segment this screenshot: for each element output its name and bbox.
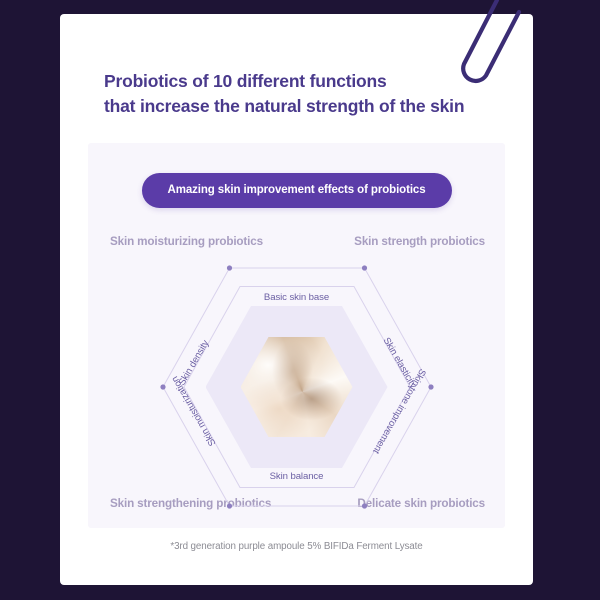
hexagon-diagram: Basic skin base Skin elasticity Skin ton… <box>162 267 432 507</box>
corner-label-skin-moisturizing: Skin moisturizing probiotics <box>110 235 263 248</box>
diagram-panel: Amazing skin improvement effects of prob… <box>88 143 505 528</box>
corner-label-skin-strength: Skin strength probiotics <box>354 235 485 248</box>
content-card: Probiotics of 10 different functions tha… <box>60 14 533 585</box>
page-title-line-2: that increase the natural strength of th… <box>104 94 504 119</box>
page-title: Probiotics of 10 different functions tha… <box>104 69 504 120</box>
footnote-text: *3rd generation purple ampoule 5% BIFIDa… <box>60 541 533 552</box>
page-title-line-1: Probiotics of 10 different functions <box>104 69 504 94</box>
hex-label-skin-balance: Skin balance <box>270 471 324 482</box>
badge-amazing-effects: Amazing skin improvement effects of prob… <box>141 173 451 208</box>
page-background: Probiotics of 10 different functions tha… <box>0 0 600 600</box>
hex-label-basic-skin-base: Basic skin base <box>264 292 329 303</box>
